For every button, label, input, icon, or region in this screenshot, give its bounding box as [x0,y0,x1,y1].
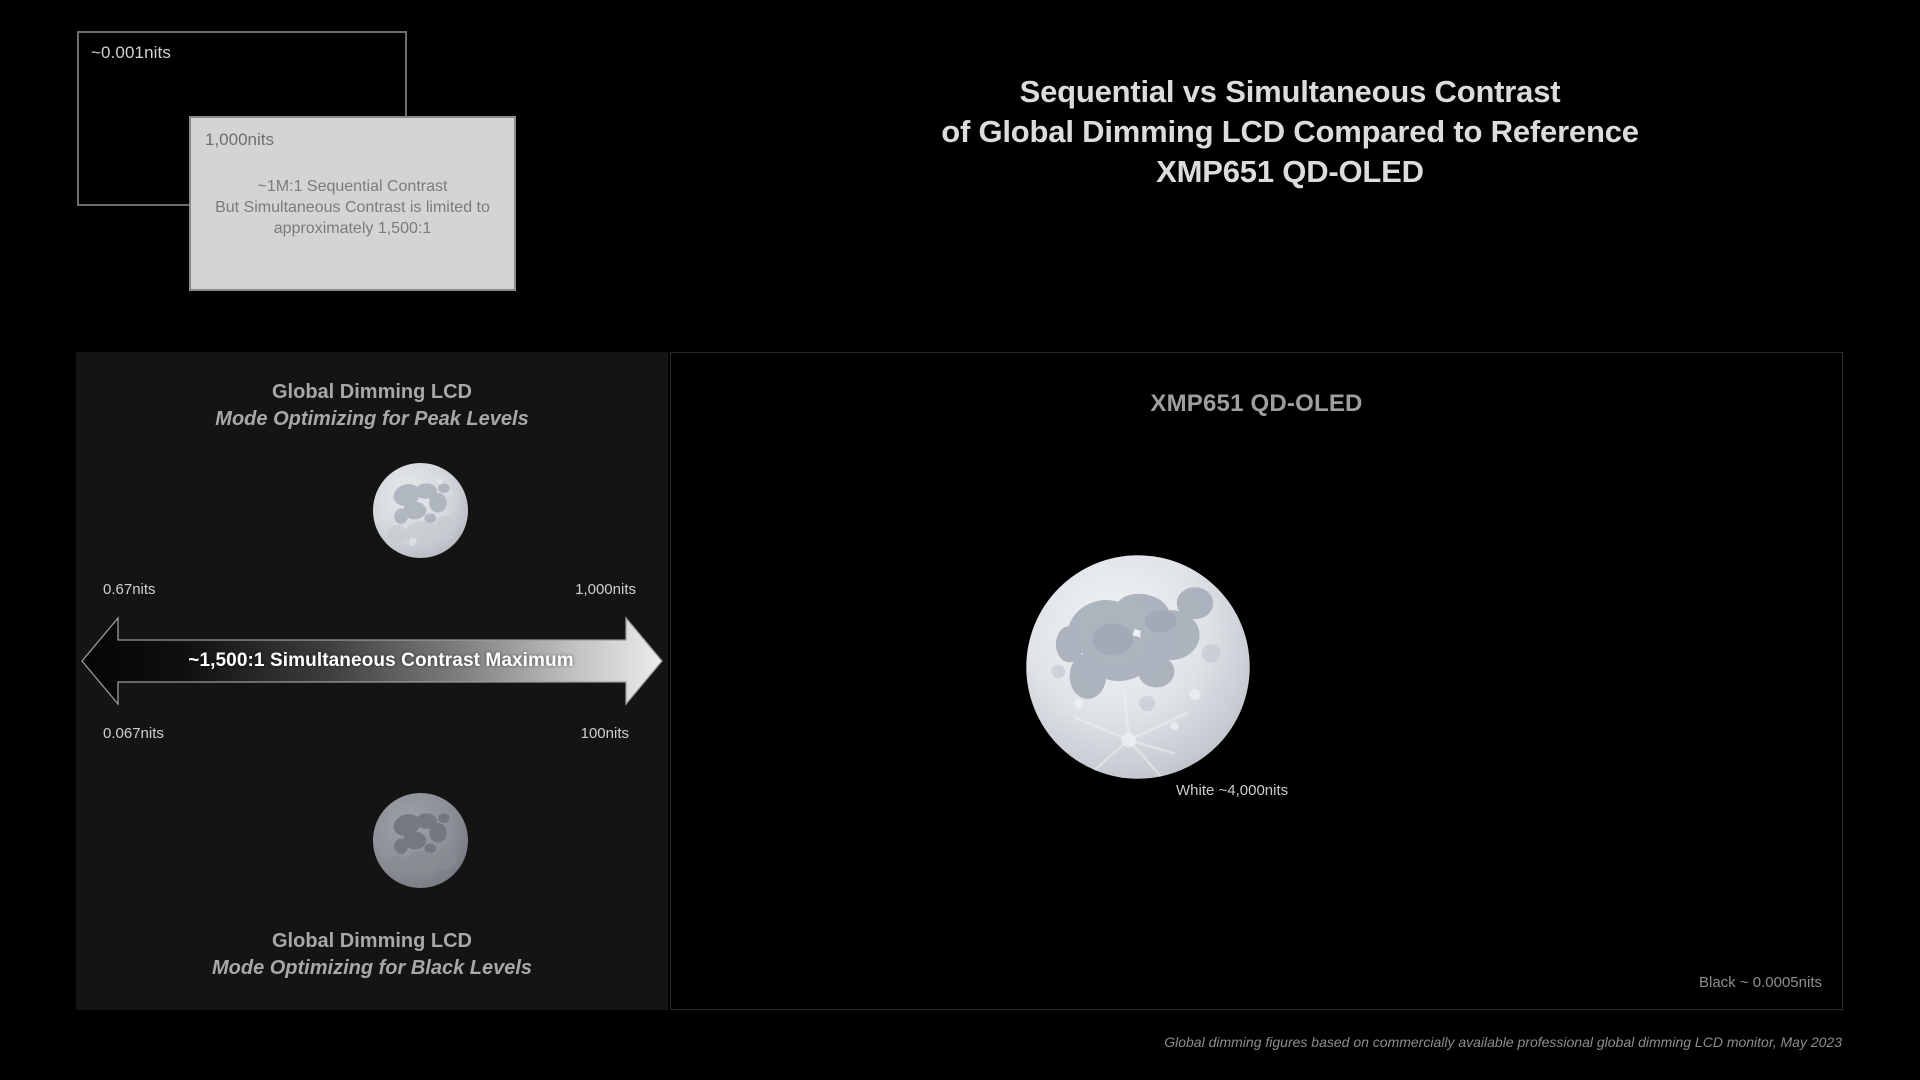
qd-oled-heading: XMP651 QD-OLED [671,390,1842,418]
lcd-peak-mode-heading-line-2: Mode Optimizing for Peak Levels [76,406,668,433]
double-arrow-icon [80,612,664,710]
lcd-nits-bottom-left: 0.067nits [103,725,164,742]
sequential-contrast-line-3: approximately 1,500:1 [205,218,500,239]
qd-oled-white-level-label: White ~4,000nits [1176,782,1288,799]
lcd-black-mode-heading: Global Dimming LCD Mode Optimizing for B… [76,928,668,982]
lcd-black-mode-heading-line-2: Mode Optimizing for Black Levels [76,955,668,982]
page-title: Sequential vs Simultaneous Contrast of G… [760,72,1820,192]
lcd-nits-top-left: 0.67nits [103,581,156,598]
simultaneous-contrast-arrow: ~1,500:1 Simultaneous Contrast Maximum [80,612,664,710]
black-frame-label: ~0.001nits [91,43,171,63]
lcd-black-mode-heading-line-1: Global Dimming LCD [76,928,668,955]
footnote: Global dimming figures based on commerci… [1164,1034,1842,1050]
qd-oled-panel: XMP651 QD-OLED [670,352,1843,1010]
page-title-line-1: Sequential vs Simultaneous Contrast [760,72,1820,112]
sequential-contrast-line-2: But Simultaneous Contrast is limited to [205,197,500,218]
sequential-contrast-diagram: ~0.001nits 1,000nits ~1M:1 Sequential Co… [0,0,560,320]
white-frame-body: ~1M:1 Sequential Contrast But Simultaneo… [191,176,514,239]
lcd-nits-bottom-right: 100nits [581,725,629,742]
moon-image-peak-levels [372,462,469,559]
moon-image-qd-oled [1024,553,1252,781]
qd-oled-black-level-label: Black ~ 0.0005nits [1699,974,1822,991]
lcd-peak-mode-heading-line-1: Global Dimming LCD [76,379,668,406]
global-dimming-lcd-panel: Global Dimming LCD Mode Optimizing for P… [76,352,668,1010]
sequential-contrast-line-1: ~1M:1 Sequential Contrast [205,176,500,197]
moon-image-black-levels [372,792,469,889]
page-title-line-3: XMP651 QD-OLED [760,152,1820,192]
white-frame-label: 1,000nits [205,130,274,150]
lcd-peak-mode-heading: Global Dimming LCD Mode Optimizing for P… [76,379,668,433]
lcd-nits-top-right: 1,000nits [575,581,636,598]
white-frame-sample: 1,000nits ~1M:1 Sequential Contrast But … [189,116,516,291]
page-title-line-2: of Global Dimming LCD Compared to Refere… [760,112,1820,152]
